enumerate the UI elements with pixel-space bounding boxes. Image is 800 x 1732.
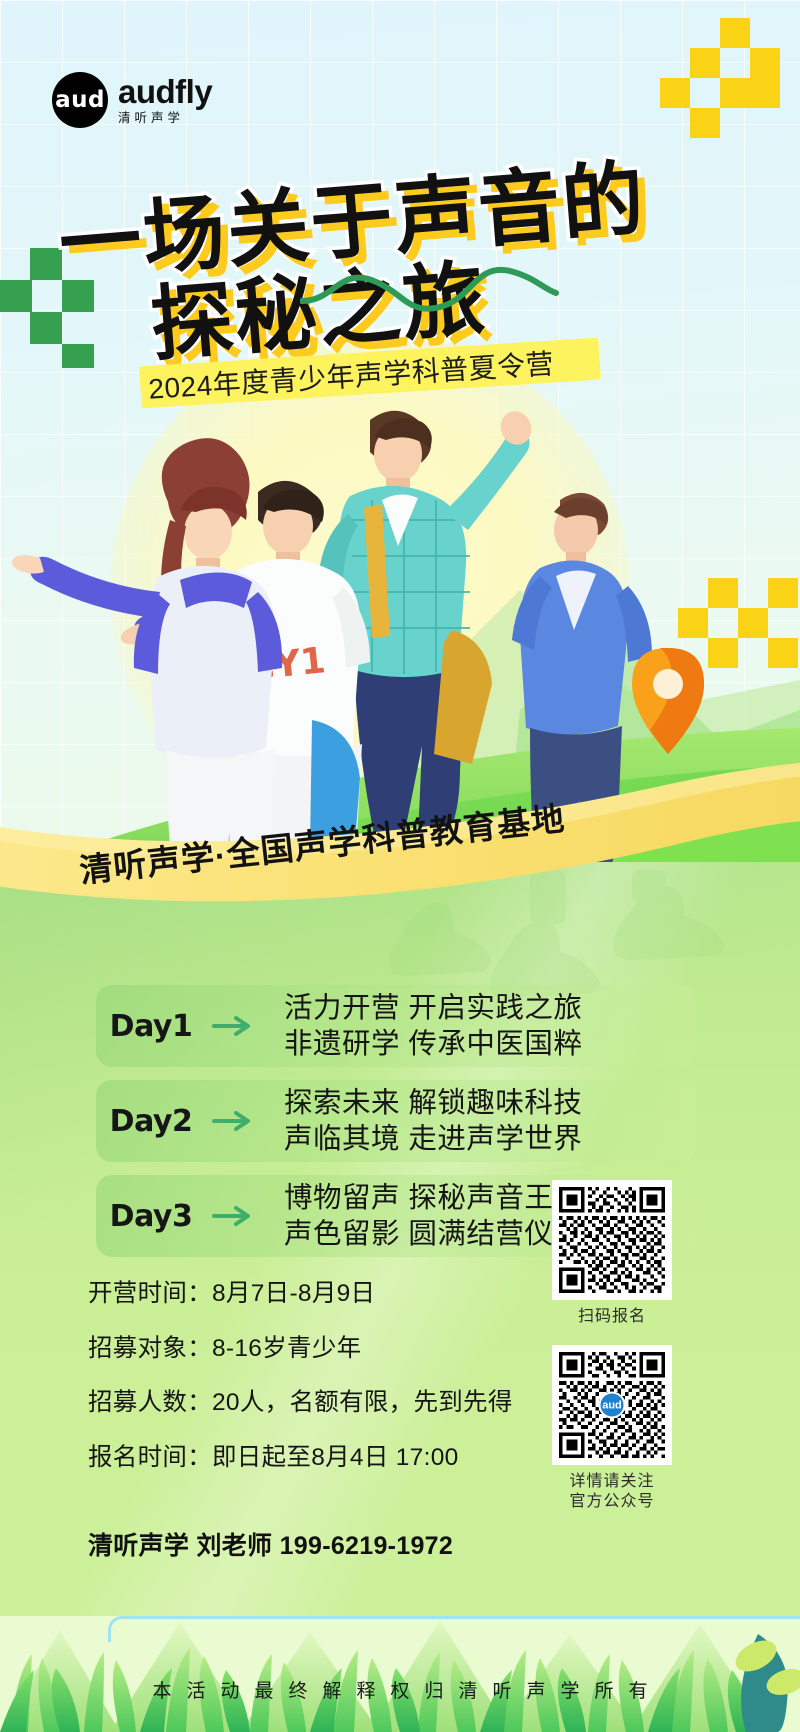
signup-qr-code[interactable] (552, 1180, 672, 1300)
qr-center-logo-icon: aud (599, 1392, 626, 1419)
contact-line: 清听声学 刘老师 199-6219-1972 (88, 1526, 453, 1562)
qr-section: 扫码报名 (528, 1180, 696, 1512)
table-row[interactable]: Day1 活力开营 开启实践之旅 非遗研学 传承中医国粹 (96, 985, 696, 1067)
day-line-2: 声临其境 走进声学世界 (284, 1121, 582, 1157)
brand-logo[interactable]: aud audfly 清听声学 (52, 72, 212, 128)
logo-mark-text: aud (55, 89, 105, 112)
signup-qr-caption: 扫码报名 (528, 1307, 696, 1327)
arrow-right-icon (206, 1110, 262, 1132)
official-account-qr-code[interactable]: aud (552, 1345, 672, 1465)
arrow-right-icon (206, 1015, 262, 1037)
table-row[interactable]: Day2 探索未来 解锁趣味科技 声临其境 走进声学世界 (96, 1080, 696, 1162)
day-line-2: 非遗研学 传承中医国粹 (284, 1026, 582, 1062)
official-qr-caption: 详情请关注 官方公众号 (528, 1472, 696, 1512)
qr-center-logo-text: aud (602, 1399, 622, 1411)
day-line-1: 活力开营 开启实践之旅 (284, 990, 582, 1026)
info-item-capacity: 招募人数：20人，名额有限，先到先得 (88, 1391, 513, 1416)
poster-root: aud audfly 清听声学 一场关于声音的 探秘之旅 2024年度青少年声学… (0, 0, 800, 1732)
logo-subtitle: 清听声学 (118, 112, 212, 125)
footer-disclaimer: 本活动最终解释权归清听声学所有 (0, 1676, 800, 1703)
day-content: 探索未来 解锁趣味科技 声临其境 走进声学世界 (284, 1085, 582, 1158)
logo-circle-icon: aud (52, 72, 108, 128)
arrow-right-icon (206, 1205, 262, 1227)
card-border-accent (108, 1616, 800, 1642)
checker-yellow-topright (630, 18, 780, 138)
qr-spacer (528, 1327, 696, 1345)
day-content: 活力开营 开启实践之旅 非遗研学 传承中医国粹 (284, 990, 582, 1063)
day-label: Day2 (96, 1104, 206, 1139)
day-label: Day1 (96, 1009, 206, 1044)
info-item-audience: 招募对象：8-16岁青少年 (88, 1337, 513, 1362)
info-list: 开营时间：8月7日-8月9日 招募对象：8-16岁青少年 招募人数：20人，名额… (88, 1282, 513, 1500)
day-line-1: 探索未来 解锁趣味科技 (284, 1085, 582, 1121)
official-qr-caption-line-2: 官方公众号 (528, 1492, 696, 1512)
day-label: Day3 (96, 1199, 206, 1234)
info-item-start-date: 开营时间：8月7日-8月9日 (88, 1282, 513, 1307)
logo-wordmark: audfly 清听声学 (118, 75, 212, 125)
logo-word: audfly (118, 75, 212, 108)
sound-wave-icon (300, 255, 560, 325)
info-item-signup-deadline: 报名时间：即日起至8月4日 17:00 (88, 1446, 513, 1471)
official-qr-caption-line-1: 详情请关注 (528, 1472, 696, 1492)
